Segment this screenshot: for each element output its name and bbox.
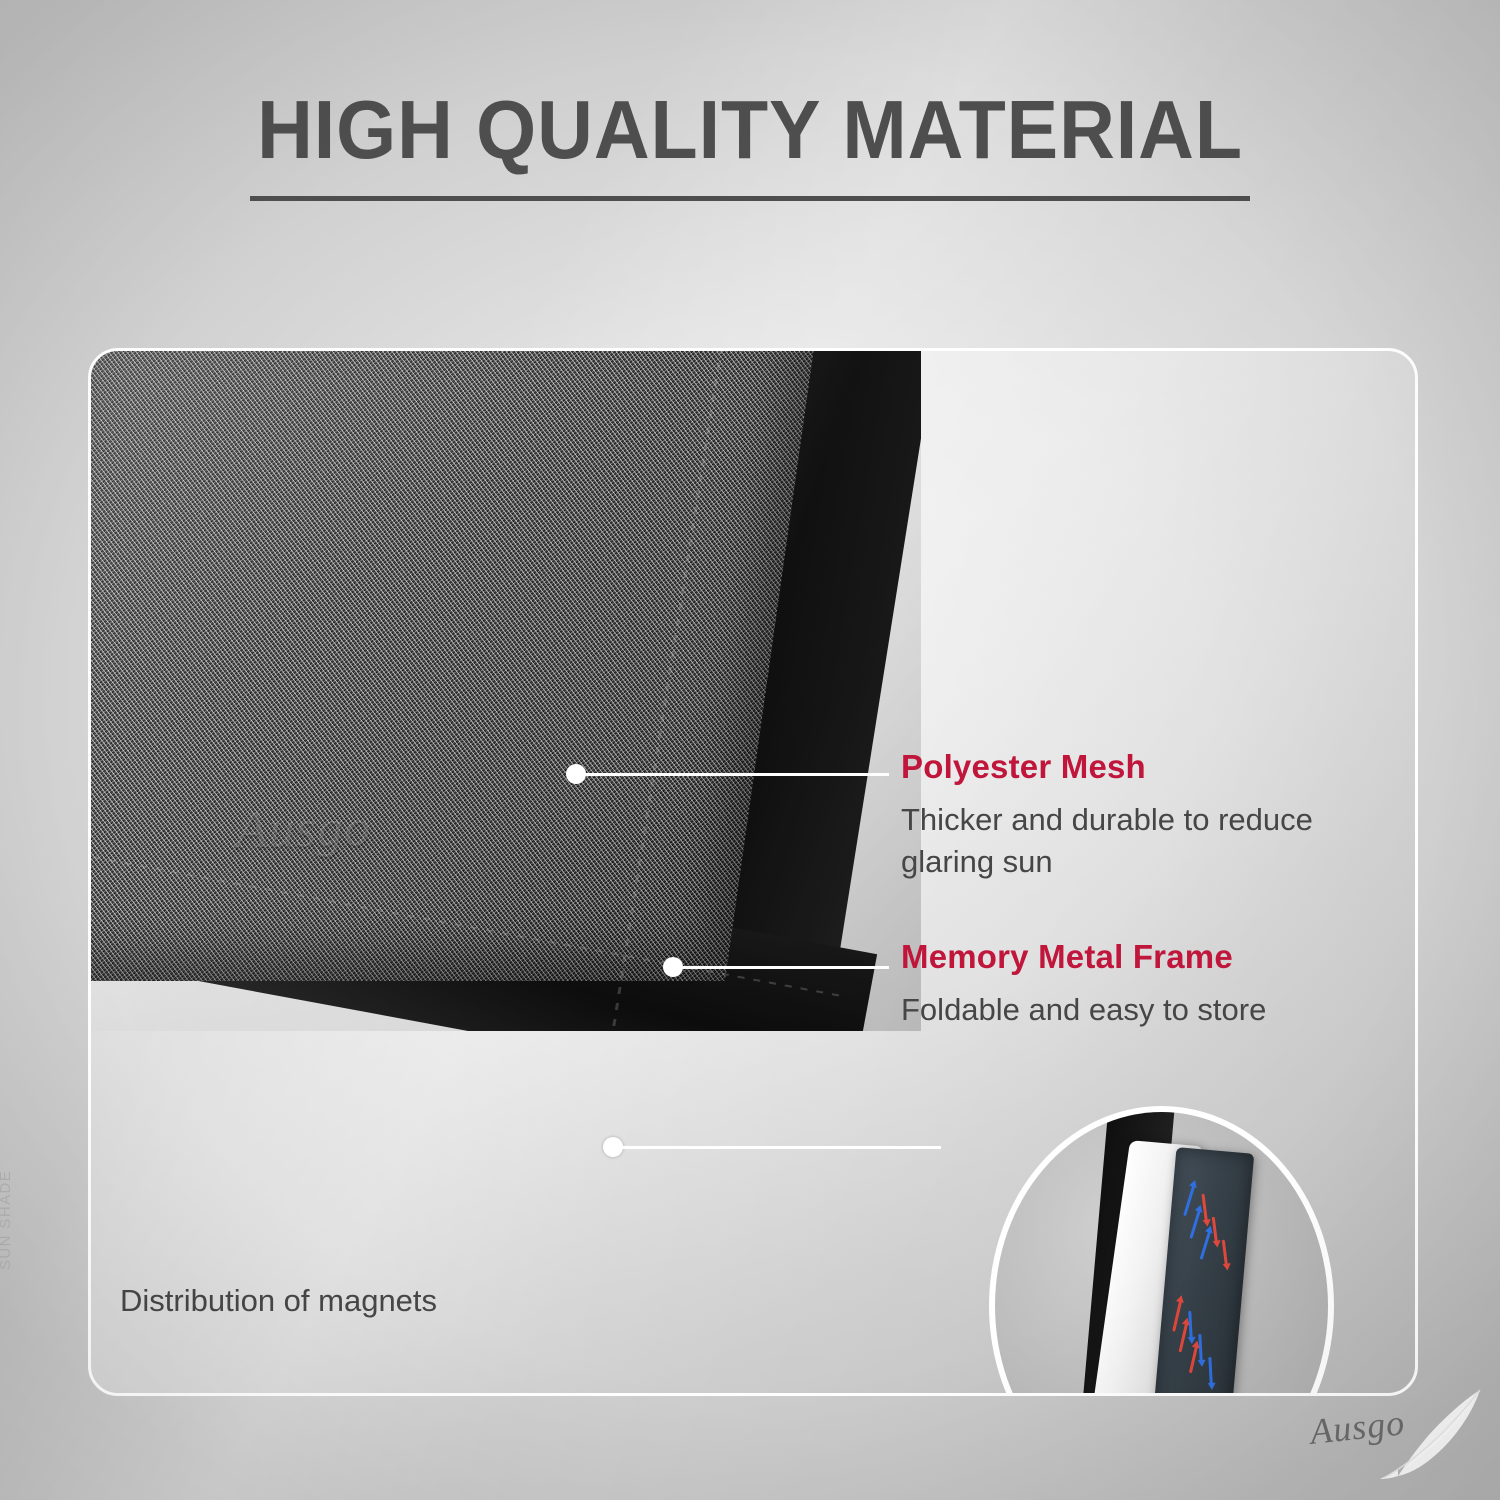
side-caption-line-2: SUN SHADE <box>0 1170 14 1270</box>
feature-callout-memory-metal-frame: Memory Metal Frame Foldable and easy to … <box>901 939 1401 1031</box>
content-frame: Polyester Mesh Thicker and durable to re… <box>88 348 1418 1396</box>
callout-dot-polyester <box>566 764 586 784</box>
field-arrow-blue <box>1208 1357 1213 1387</box>
callout-leader-polyester <box>584 773 889 776</box>
title-underline-rule <box>250 196 1250 201</box>
infographic-canvas: HIGH QUALITY MATERIAL <box>0 0 1500 1500</box>
field-arrow-blue <box>1183 1183 1196 1216</box>
callout-dot-magnetic <box>603 1137 623 1157</box>
callout-dot-memory-frame <box>663 957 683 977</box>
callout-leader-memory-frame <box>681 966 889 969</box>
feature-description: Foldable and easy to store <box>901 989 1401 1030</box>
magnet-diagram-caption: Distribution of magnets <box>120 1283 620 1319</box>
feature-heading: Memory Metal Frame <box>901 939 1401 975</box>
field-arrow-red <box>1172 1298 1183 1332</box>
page-title: HIGH QUALITY MATERIAL <box>53 88 1448 171</box>
side-caption: AUSGO 4WD&ACCESSORIES SUN SHADE <box>0 980 17 1270</box>
field-arrow-red <box>1222 1240 1228 1268</box>
feature-callout-polyester-mesh: Polyester Mesh Thicker and durable to re… <box>901 749 1401 882</box>
feature-description: Thicker and durable to reduce glaring su… <box>901 799 1401 881</box>
callout-leader-magnetic <box>621 1146 941 1149</box>
field-arrow-blue <box>1189 1207 1201 1238</box>
magnetic-block-inset <box>989 1106 1334 1396</box>
field-arrow-blue <box>1200 1228 1212 1259</box>
inset-circle <box>989 1106 1334 1396</box>
field-arrow-blue <box>1188 1311 1193 1341</box>
feature-heading: Polyester Mesh <box>901 749 1401 785</box>
brand-logo: Ausgo <box>1290 1388 1500 1500</box>
feather-icon <box>1376 1384 1500 1500</box>
field-arrow-red <box>1189 1343 1199 1373</box>
field-arrow-blue <box>1198 1334 1203 1364</box>
mesh-clip <box>91 351 921 1031</box>
product-photo <box>91 351 921 1031</box>
